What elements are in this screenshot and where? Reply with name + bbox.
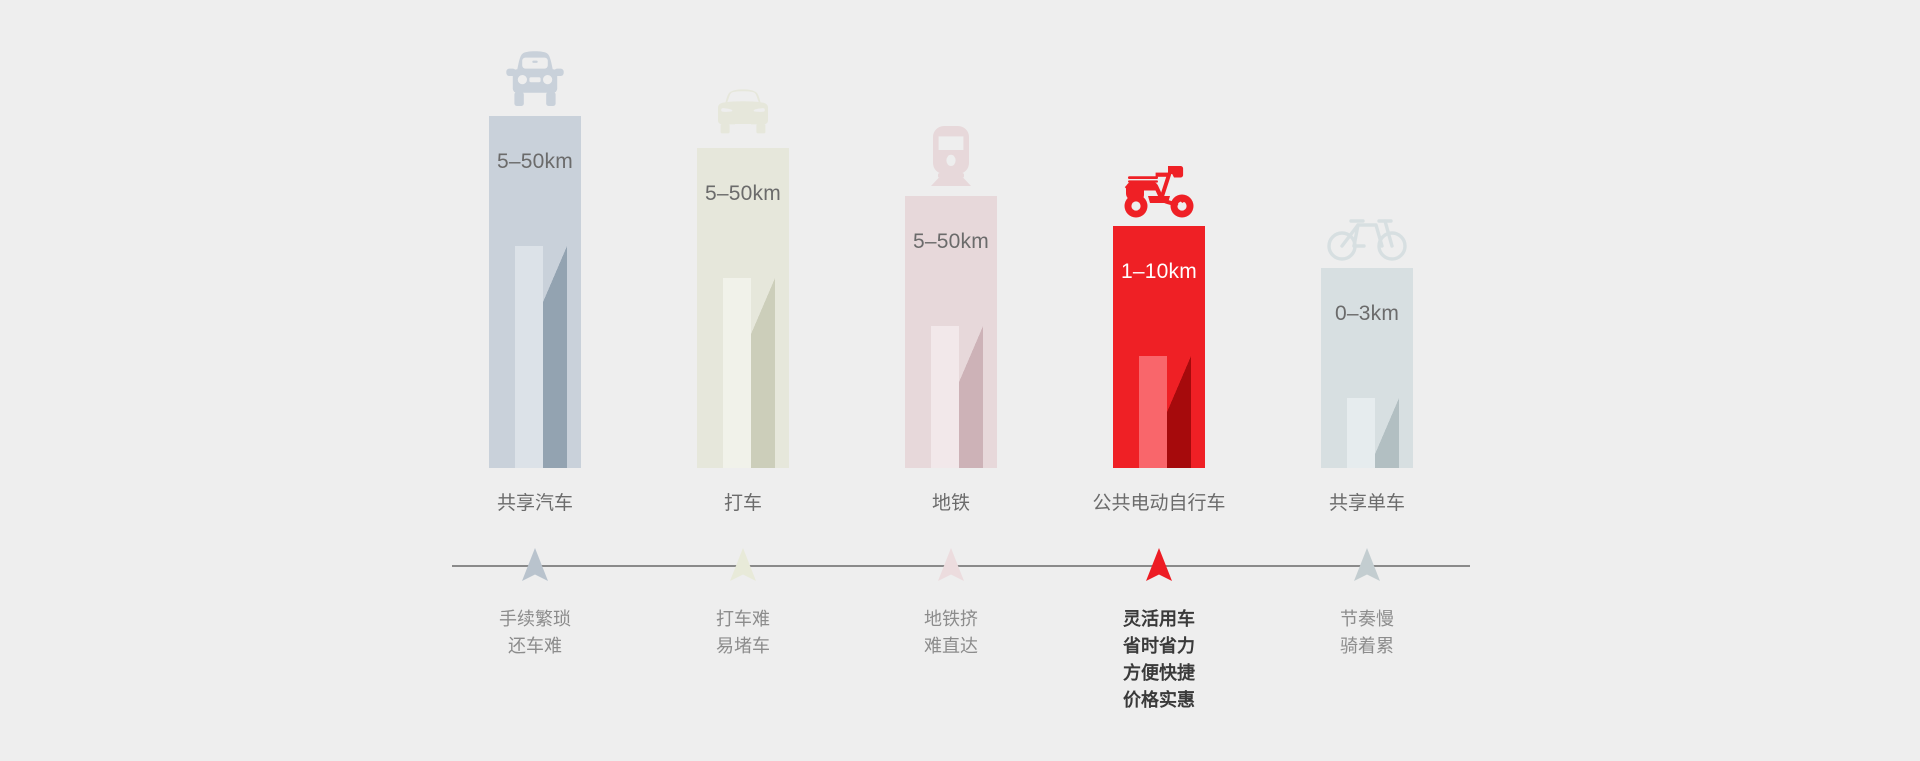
bar-public-ebike[interactable]: 1–10km	[1113, 226, 1205, 468]
bar-front-face	[1347, 398, 1375, 468]
annotation-line: 灵活用车	[1064, 606, 1254, 633]
annotation-line: 还车难	[440, 633, 630, 660]
bar-front-face	[515, 246, 543, 468]
bar-value-label: 0–3km	[1321, 302, 1413, 326]
category-label-bikeshare: 共享单车	[1272, 488, 1462, 515]
annotations-container: 手续繁琐还车难打车难易堵车地铁挤难直达灵活用车省时省力方便快捷价格实惠节奏慢骑着…	[440, 606, 1480, 756]
annotation-line: 省时省力	[1064, 633, 1254, 660]
bicycle-icon	[1272, 176, 1462, 262]
bar-side-body	[751, 334, 775, 468]
bar-side-bevel	[543, 246, 567, 302]
bar-subway[interactable]: 5–50km	[905, 196, 997, 468]
car-front-icon	[440, 24, 630, 110]
bar-column-taxi[interactable]: 5–50km打车	[648, 0, 838, 530]
annotation-bikeshare: 节奏慢骑着累	[1272, 606, 1462, 660]
bar-carshare[interactable]: 5–50km	[489, 116, 581, 468]
bar-side-face	[543, 246, 567, 468]
transport-comparison-infographic: 5–50km共享汽车5–50km打车5–50km地铁1–10km公共电动自行车0…	[0, 0, 1920, 761]
annotation-line: 易堵车	[648, 633, 838, 660]
annotation-line: 打车难	[648, 606, 838, 633]
annotation-subway: 地铁挤难直达	[856, 606, 1046, 660]
bar-column-public-ebike[interactable]: 1–10km公共电动自行车	[1064, 0, 1254, 530]
scooter-icon	[1064, 134, 1254, 220]
annotation-line: 手续繁琐	[440, 606, 630, 633]
annotation-line: 骑着累	[1272, 633, 1462, 660]
bar-side-body	[1167, 412, 1191, 468]
bar-side-bevel	[959, 326, 983, 382]
car-sedan-icon	[648, 56, 838, 142]
annotation-line: 价格实惠	[1064, 687, 1254, 714]
bar-side-face	[751, 278, 775, 468]
annotation-line: 方便快捷	[1064, 660, 1254, 687]
bar-side-face	[959, 326, 983, 468]
bar-value-label: 1–10km	[1113, 260, 1205, 284]
bar-taxi[interactable]: 5–50km	[697, 148, 789, 468]
bar-side-bevel	[1375, 398, 1399, 454]
annotation-line: 难直达	[856, 633, 1046, 660]
bar-column-bikeshare[interactable]: 0–3km共享单车	[1272, 0, 1462, 530]
category-label-taxi: 打车	[648, 488, 838, 515]
bar-bikeshare[interactable]: 0–3km	[1321, 268, 1413, 468]
annotation-line: 节奏慢	[1272, 606, 1462, 633]
bar-value-label: 5–50km	[905, 230, 997, 254]
annotation-carshare: 手续繁琐还车难	[440, 606, 630, 660]
bar-column-carshare[interactable]: 5–50km共享汽车	[440, 0, 630, 530]
bar-value-label: 5–50km	[697, 182, 789, 206]
category-label-subway: 地铁	[856, 488, 1046, 515]
bar-column-subway[interactable]: 5–50km地铁	[856, 0, 1046, 530]
bar-side-body	[959, 382, 983, 468]
bar-side-body	[1375, 454, 1399, 468]
annotation-line: 地铁挤	[856, 606, 1046, 633]
bar-side-face	[1167, 356, 1191, 468]
timeline-axis	[452, 565, 1470, 567]
category-label-public-ebike: 公共电动自行车	[1064, 488, 1254, 515]
bar-value-label: 5–50km	[489, 150, 581, 174]
bar-front-face	[931, 326, 959, 468]
bar-side-body	[543, 302, 567, 468]
bar-side-bevel	[1167, 356, 1191, 412]
annotation-taxi: 打车难易堵车	[648, 606, 838, 660]
bar-front-face	[1139, 356, 1167, 468]
train-front-icon	[856, 104, 1046, 190]
category-label-carshare: 共享汽车	[440, 488, 630, 515]
annotation-public-ebike: 灵活用车省时省力方便快捷价格实惠	[1064, 606, 1254, 714]
bar-columns-container: 5–50km共享汽车5–50km打车5–50km地铁1–10km公共电动自行车0…	[440, 0, 1480, 530]
bar-side-face	[1375, 398, 1399, 468]
bar-side-bevel	[751, 278, 775, 334]
bar-front-face	[723, 278, 751, 468]
